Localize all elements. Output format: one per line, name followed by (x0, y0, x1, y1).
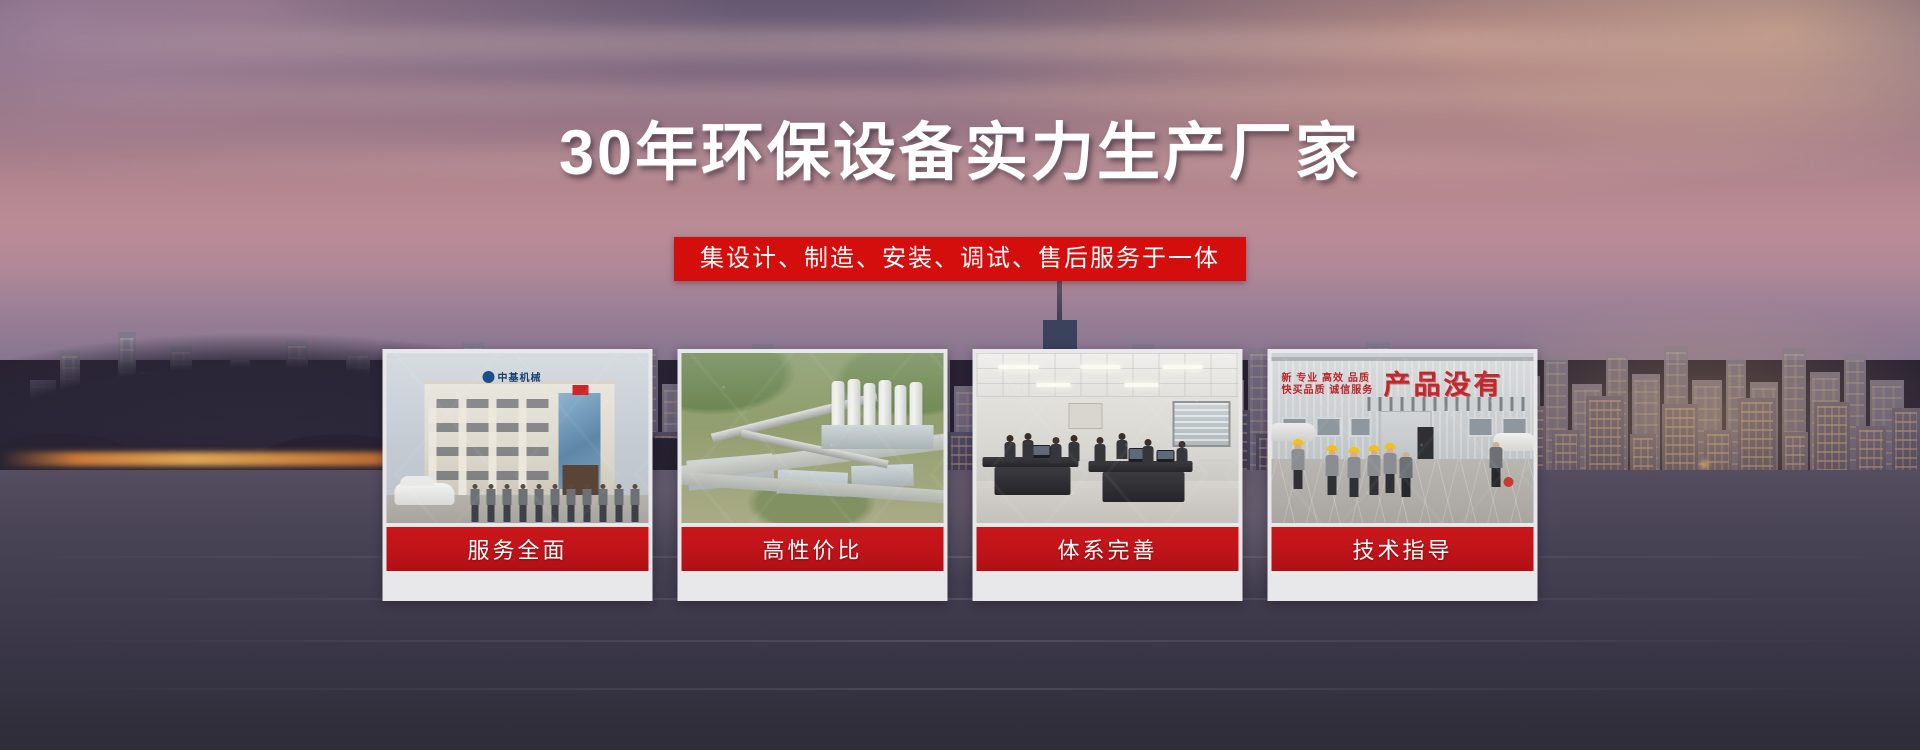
subtitle-badge: 集设计、制造、安装、调试、售后服务于一体 (674, 237, 1246, 281)
office-interior-team-photo (977, 353, 1239, 523)
building-sign: 中基机械 (483, 369, 567, 384)
parked-car (1272, 423, 1316, 441)
feature-card-list: 中基机械 (383, 349, 1538, 601)
factory-wall-slogan-small: 新 专业 高效 品质 快买品质 诚信服务 (1282, 373, 1382, 397)
page-title: 30年环保设备实力生产厂家 (0, 102, 1920, 193)
company-logo-icon (483, 371, 495, 383)
red-helmet-icon (1504, 477, 1514, 487)
feature-card[interactable]: 高性价比 (678, 349, 948, 601)
wall-poster (1069, 403, 1103, 429)
building-sign-text: 中基机械 (498, 369, 542, 384)
feature-card-label: 体系完善 (977, 527, 1239, 571)
flag-icon (573, 385, 589, 395)
aerial-plant-facility-photo (682, 353, 944, 523)
feature-card-label: 高性价比 (682, 527, 944, 571)
feature-card[interactable]: 体系完善 (973, 349, 1243, 601)
feature-card[interactable]: 产品没有 新 专业 高效 品质 快买品质 诚信服务 (1268, 349, 1538, 601)
company-office-building-photo: 中基机械 (387, 353, 649, 523)
feature-card-label: 技术指导 (1272, 527, 1534, 571)
hero-banner: 30年环保设备实力生产厂家 集设计、制造、安装、调试、售后服务于一体 中基机械 (0, 0, 1920, 750)
parked-car (395, 483, 455, 505)
feature-card[interactable]: 中基机械 (383, 349, 653, 601)
banner-content: 30年环保设备实力生产厂家 集设计、制造、安装、调试、售后服务于一体 中基机械 (0, 0, 1920, 750)
factory-workers-training-photo: 产品没有 新 专业 高效 品质 快买品质 诚信服务 (1272, 353, 1534, 523)
feature-card-label: 服务全面 (387, 527, 649, 571)
